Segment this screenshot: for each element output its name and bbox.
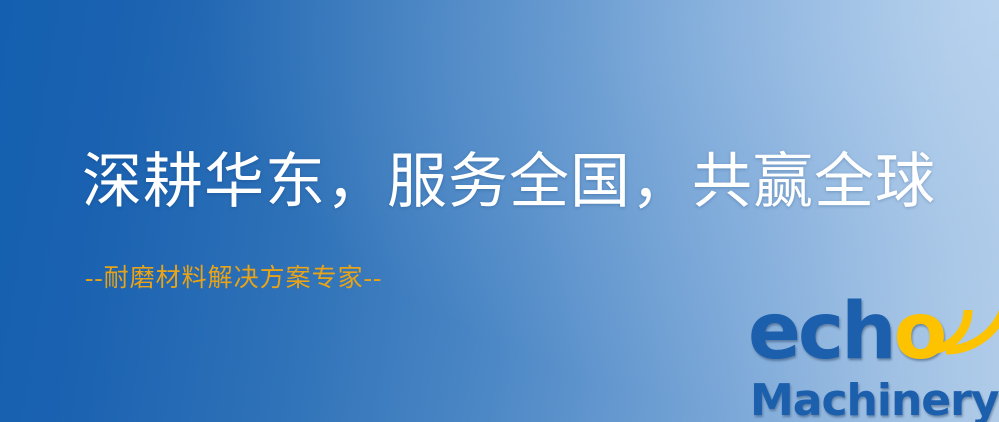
logo-tagline: Machinery® <box>750 368 999 422</box>
banner-headline: 深耕华东，服务全国，共赢全球 <box>82 151 936 214</box>
echo-machinery-logo: echo Machinery® <box>748 296 999 422</box>
logo-wordmark-prefix: ech <box>748 287 894 377</box>
banner-subheadline: --耐磨材料解决方案专家-- <box>85 265 382 293</box>
logo-wordmark: echo <box>748 296 944 368</box>
echo-wave-icon <box>920 292 999 358</box>
promo-banner: 深耕华东，服务全国，共赢全球 --耐磨材料解决方案专家-- echo Machi… <box>0 0 999 422</box>
logo-tagline-text: Machinery <box>750 375 999 422</box>
